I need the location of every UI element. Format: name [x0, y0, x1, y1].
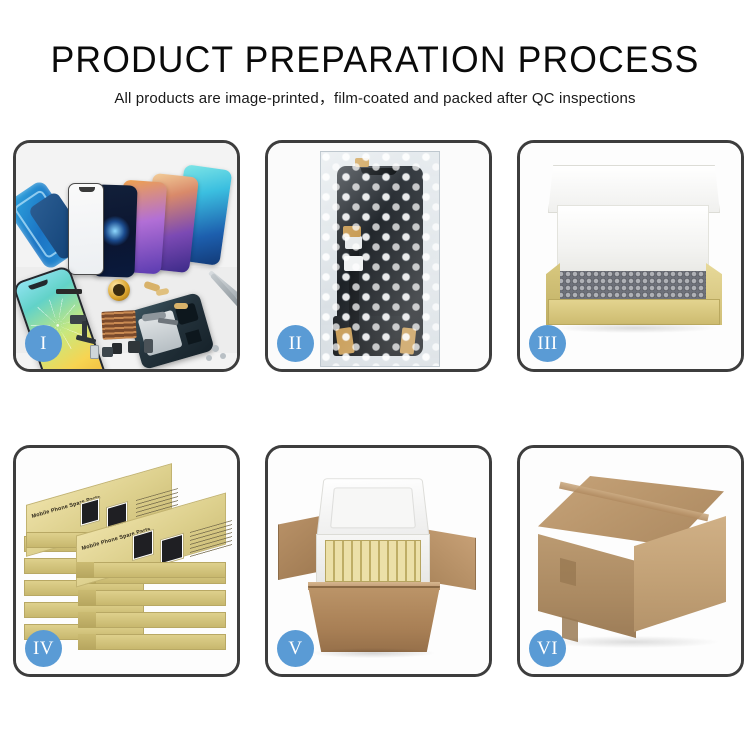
- process-step-grid: I II: [13, 140, 740, 677]
- foam-box-lid-icon: [316, 478, 430, 539]
- product-preparation-infographic: PRODUCT PREPARATION PROCESS All products…: [0, 0, 750, 750]
- page-title: PRODUCT PREPARATION PROCESS: [15, 38, 735, 82]
- process-step-4[interactable]: Mobile Phone Spare Parts Mobile Phone Sp…: [13, 445, 240, 677]
- carton-tape-icon: [560, 558, 576, 586]
- screw-icon: [212, 345, 219, 352]
- step-badge-1: I: [25, 325, 62, 362]
- page-subtitle: All products are image-printed，film-coat…: [0, 89, 750, 109]
- box-front-wall-icon: [548, 299, 720, 325]
- step-badge-6: VI: [529, 630, 566, 667]
- spare-part-icon: [144, 339, 153, 353]
- bubble-wrap-bag-icon: [320, 151, 440, 367]
- screw-icon: [206, 355, 212, 361]
- spare-part-icon: [102, 347, 113, 357]
- screw-icon: [220, 353, 226, 359]
- drop-shadow: [546, 636, 718, 648]
- drop-shadow: [554, 323, 716, 333]
- process-step-6[interactable]: VI: [517, 445, 744, 677]
- drop-shadow: [312, 648, 434, 658]
- chip-grid-icon: [101, 310, 136, 340]
- spare-part-icon: [90, 345, 99, 359]
- process-step-3[interactable]: III: [517, 140, 744, 372]
- screen-glass-icon: [68, 183, 104, 275]
- process-step-1[interactable]: I: [13, 140, 240, 372]
- carton-front-icon: [308, 586, 440, 652]
- step-badge-5: V: [277, 630, 314, 667]
- process-step-5[interactable]: V: [265, 445, 492, 677]
- foam-sheet-icon: [557, 205, 709, 277]
- spare-part-icon: [112, 343, 122, 354]
- process-step-2[interactable]: II: [265, 140, 492, 372]
- spare-part-icon: [174, 303, 188, 309]
- speaker-coil-icon: [108, 279, 130, 301]
- yellow-boxes-icon: [325, 540, 421, 582]
- header: PRODUCT PREPARATION PROCESS All products…: [0, 0, 750, 109]
- spare-part-icon: [56, 289, 82, 294]
- step-badge-2: II: [277, 325, 314, 362]
- step-badge-4: IV: [25, 630, 62, 667]
- step-badge-3: III: [529, 325, 566, 362]
- plastic-sheen-icon: [321, 152, 439, 366]
- spare-part-icon: [128, 341, 140, 353]
